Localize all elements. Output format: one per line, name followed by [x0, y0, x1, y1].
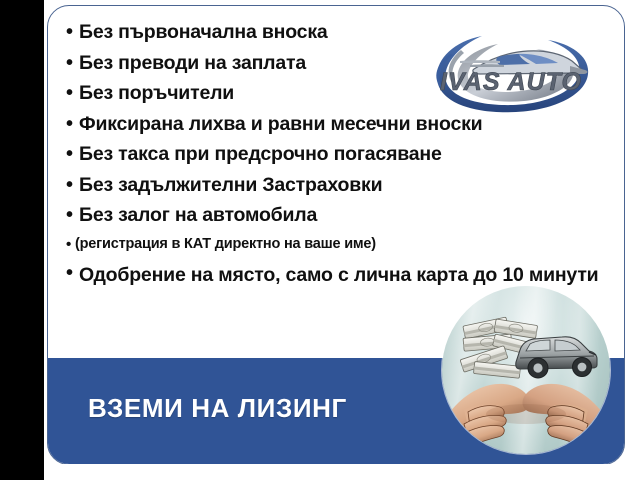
letterbox-bar-left: [0, 0, 44, 480]
cta-headline: ВЗЕМИ НА ЛИЗИНГ: [88, 393, 347, 424]
bottom-white-strip: [44, 464, 640, 480]
bullet-dot-icon: •: [66, 263, 79, 283]
list-item: • Без такса при предсрочно погасяване: [66, 144, 606, 164]
bullet-dot-icon: •: [66, 175, 79, 195]
list-item-label: Одобрение на място, само с лична карта д…: [79, 263, 606, 288]
bullet-dot-icon: •: [66, 205, 79, 225]
ad-canvas: • Без първоначална вноска • Без преводи …: [0, 0, 640, 480]
list-item-label: Без такса при предсрочно погасяване: [79, 144, 606, 164]
bullet-dot-icon: •: [66, 83, 79, 103]
list-item-label: Без задължителни Застраховки: [79, 175, 606, 195]
bullet-dot-icon: •: [66, 114, 79, 134]
list-item: • Без залог на автомобила: [66, 205, 606, 225]
logo-wordmark: IVAS AUTO: [440, 68, 582, 96]
list-item: • Без задължителни Застраховки: [66, 175, 606, 195]
promo-card: • Без първоначална вноска • Без преводи …: [47, 5, 625, 465]
bullet-dot-icon: •: [66, 236, 75, 253]
car-sketch-icon: [516, 337, 597, 378]
list-item-label: (регистрация в КАТ директно на ваше име): [75, 236, 606, 253]
bullet-dot-icon: •: [66, 53, 79, 73]
hands-money-car-photo: [442, 286, 610, 454]
list-item-label: Без залог на автомобила: [79, 205, 606, 225]
ivas-auto-logo: IVAS AUTO: [420, 24, 606, 116]
bullet-dot-icon: •: [66, 22, 79, 42]
list-item-note: • (регистрация в КАТ директно на ваше им…: [66, 236, 606, 253]
list-item-label: Фиксирана лихва и равни месечни вноски: [79, 114, 606, 134]
list-item: • Фиксирана лихва и равни месечни вноски: [66, 114, 606, 134]
list-item: • Одобрение на място, само с лична карта…: [66, 263, 606, 288]
bullet-dot-icon: •: [66, 144, 79, 164]
